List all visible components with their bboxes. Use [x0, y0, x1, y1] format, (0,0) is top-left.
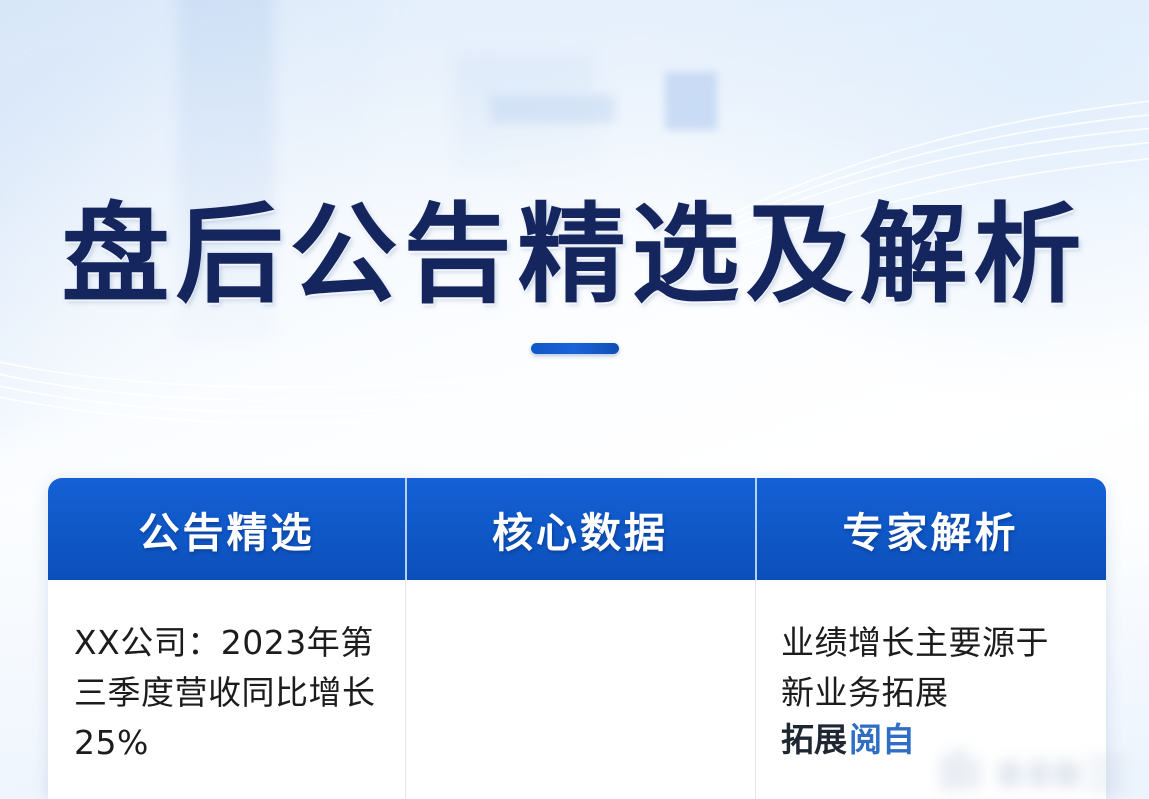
- title-block: 盘后公告精选及解析: [0, 196, 1149, 354]
- table-header-label: 公告精选: [139, 499, 315, 559]
- table-header-row: 公告精选 核心数据 专家解析: [48, 478, 1106, 580]
- title-divider-rule: [531, 343, 619, 354]
- render-ghost-artifact: 拓展 阅自: [781, 720, 915, 760]
- announcement-text: XX公司：2023年第三季度营收同比增长25%: [74, 618, 379, 768]
- table-cell-announcement: XX公司：2023年第三季度营收同比增长25%: [48, 580, 405, 799]
- table-cell-expert-analysis: 业绩增长主要源于新业务拓展 拓展 阅自: [755, 580, 1106, 799]
- announcement-table-card: 公告精选 核心数据 专家解析 XX公司：2023年第三季度营收同比增长25% 业…: [48, 478, 1106, 799]
- ghost-artifact-dark-text: 拓展: [781, 720, 847, 760]
- page-title: 盘后公告精选及解析: [0, 196, 1149, 317]
- table-header-cell-expert-analysis: 专家解析: [755, 478, 1106, 580]
- poster-canvas: 盘后公告精选及解析 公告精选 核心数据 专家解析 XX公司：2023年第三季度营…: [0, 0, 1149, 799]
- table-row: XX公司：2023年第三季度营收同比增长25% 业绩增长主要源于新业务拓展 拓展…: [48, 580, 1106, 799]
- table-header-cell-announcements: 公告精选: [48, 478, 405, 580]
- background-block-c: [490, 95, 615, 123]
- table-header-label: 核心数据: [492, 499, 668, 559]
- table-cell-core-data: [405, 580, 755, 799]
- background-block-b: [455, 55, 595, 177]
- ghost-artifact-blue-text: 阅自: [849, 720, 915, 760]
- table-header-cell-core-data: 核心数据: [405, 478, 755, 580]
- expert-analysis-text: 业绩增长主要源于新业务拓展: [781, 618, 1080, 718]
- background-block-d: [665, 72, 717, 130]
- table-header-label: 专家解析: [843, 499, 1019, 559]
